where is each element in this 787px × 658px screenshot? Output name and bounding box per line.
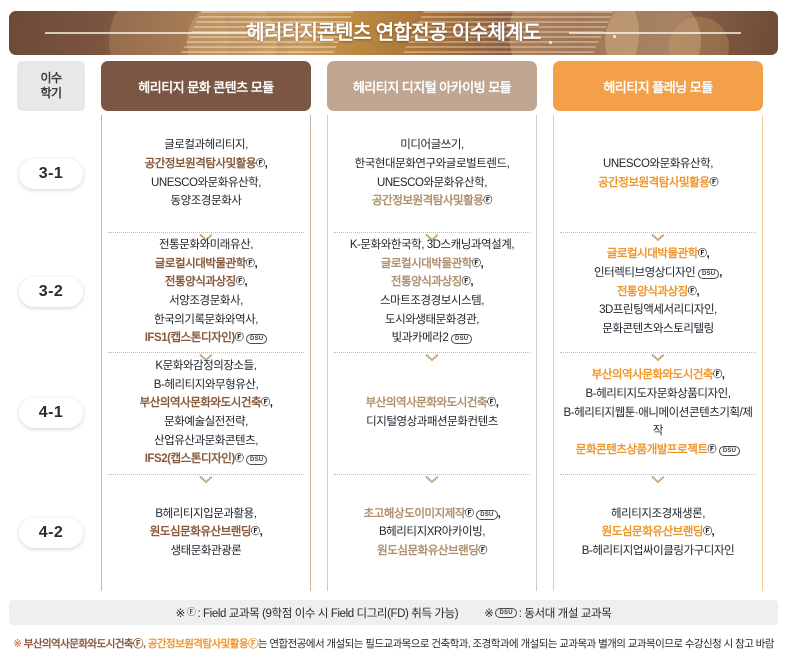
course-name[interactable]: B-헤리티지업싸이클링가구디자인 [582, 545, 734, 557]
module-body-3: UNESCO와문화유산학,공간정보원격탐사및활용Ⓕ글로컬시대박물관학Ⓕ,인터렉티… [553, 115, 763, 591]
comma: , [706, 248, 709, 260]
course-list: 부산의역사문화와도시건축Ⓕ,B-헤리티지도자문화상품디자인,B-헤리티지웹툰·애… [554, 366, 762, 459]
course-name[interactable]: 공간정보원격탐사및활용 [372, 195, 483, 207]
dsu-badge-icon: DSU [246, 334, 267, 344]
course-name[interactable]: 전통문화와미래유산, [159, 239, 253, 251]
comma: , [260, 526, 263, 538]
legend-dsu-text: : 동서대 개설 교과목 [519, 605, 612, 621]
comma: , [480, 258, 483, 270]
course-name[interactable]: 미디어글쓰기, [400, 139, 464, 151]
field-badge-icon: Ⓕ [235, 454, 244, 463]
field-badge-icon: Ⓕ [261, 398, 270, 407]
course-name[interactable]: 문화콘텐츠상품개발프로젝트 [576, 444, 708, 456]
course-list: K문화와감정의장소들,B-헤리티지와무형유산,부산의역사문화와도시건축Ⓕ,문화예… [134, 357, 279, 469]
module-column-1: 헤리티지 문화 콘텐츠 모듈 글로컬과헤리티지,공간정보원격탐사및활용Ⓕ,UNE… [97, 61, 315, 591]
footnote-course-2: 공간정보원격탐사및활용Ⓕ [148, 638, 258, 650]
comma: , [470, 276, 473, 288]
module-body-2: 미디어글쓰기,한국현대문화연구와글로벌트렌드,UNESCO와문화유산학,공간정보… [327, 115, 537, 591]
course-name[interactable]: B-헤리티지와무형유산, [154, 379, 259, 391]
course-name[interactable]: UNESCO와문화유산학, [603, 158, 713, 170]
module-header-1[interactable]: 헤리티지 문화 콘텐츠 모듈 [101, 61, 311, 111]
field-badge-icon: Ⓕ [713, 370, 722, 379]
field-badge-icon: Ⓕ [709, 178, 718, 187]
field-badge-icon: Ⓕ [256, 159, 265, 168]
legend-dsu-star: ※ [484, 606, 493, 620]
semester-pill: 4-1 [19, 398, 83, 428]
comma: , [498, 508, 501, 520]
course-name[interactable]: 전통양식과상징 [165, 276, 236, 288]
dsu-badge-icon: DSU [719, 446, 740, 456]
course-name[interactable]: 원도심문화유산브랜딩 [377, 545, 478, 557]
semester-header-line1: 이수 [40, 71, 61, 86]
footnote-star: ※ [13, 638, 21, 650]
course-name[interactable]: 글로컬시대박물관학 [381, 258, 472, 270]
course-list: K-문화와한국학, 3D스캐닝과역설계,글로컬시대박물관학Ⓕ,전통양식과상징Ⓕ,… [344, 236, 520, 348]
comma: , [254, 258, 257, 270]
course-list: UNESCO와문화유산학,공간정보원격탐사및활용Ⓕ [592, 155, 724, 192]
table-row: 전통문화와미래유산,글로컬시대박물관학Ⓕ,전통양식과상징Ⓕ,서양조경문화사,한국… [102, 232, 310, 352]
legend-field: ※ Ⓕ : Field 교과목 (9학점 이수 시 Field 디그리(FD) … [176, 605, 459, 621]
field-badge-icon: Ⓕ [187, 608, 196, 617]
course-name[interactable]: UNESCO와문화유산학, [151, 177, 261, 189]
course-name[interactable]: 원도심문화유산브랜딩 [150, 526, 251, 538]
page-banner: 헤리티지콘텐츠 연합전공 이수체계도 [9, 11, 778, 55]
course-name[interactable]: B-헤리티지도자문화상품디자인, [585, 388, 730, 400]
field-badge-icon: Ⓕ [708, 445, 717, 454]
course-name[interactable]: 생태문화관광론 [171, 545, 242, 557]
course-list: 초고해상도이미지제작Ⓕ DSU,B헤리티지XR아카이빙,원도심문화유산브랜딩Ⓕ [358, 505, 507, 561]
course-name[interactable]: 글로컬시대박물관학 [607, 248, 698, 260]
course-name[interactable]: 빛과카메라2 [392, 332, 449, 344]
course-name[interactable]: 도시와생태문화경관, [385, 314, 479, 326]
course-name[interactable]: 전통양식과상징 [617, 286, 688, 298]
legend-field-text: : Field 교과목 (9학점 이수 시 Field 디그리(FD) 취득 가… [197, 605, 458, 621]
legend-field-star: ※ [176, 606, 185, 620]
module-column-2: 헤리티지 디지털 아카이빙 모듈 미디어글쓰기,한국현대문화연구와글로벌트렌드,… [323, 61, 541, 591]
course-list: 글로컬과헤리티지,공간정보원격탐사및활용Ⓕ,UNESCO와문화유산학,동양조경문… [139, 136, 274, 211]
semester-column: 이수 학기 3-13-24-14-2 [9, 61, 93, 591]
field-badge-icon: Ⓕ [483, 196, 492, 205]
comma: , [244, 276, 247, 288]
module-header-3[interactable]: 헤리티지 플래닝 모듈 [553, 61, 763, 111]
comma: , [496, 397, 499, 409]
page-title: 헤리티지콘텐츠 연합전공 이수체계도 [9, 11, 778, 55]
course-name[interactable]: 인터렉티브영상디자인 [594, 267, 695, 279]
course-name[interactable]: 공간정보원격탐사및활용 [145, 158, 256, 170]
dsu-badge-icon: DSU [698, 269, 719, 279]
course-list: B헤리티지입문과활용,원도심문화유산브랜딩Ⓕ,생태문화관광론 [144, 505, 269, 561]
table-row: 초고해상도이미지제작Ⓕ DSU,B헤리티지XR아카이빙,원도심문화유산브랜딩Ⓕ [328, 474, 536, 591]
field-badge-icon: Ⓕ [478, 546, 487, 555]
field-badge-icon: Ⓕ [703, 527, 712, 536]
semester-pill: 4-2 [19, 518, 83, 548]
comma: , [270, 397, 273, 409]
footnote: ※ 부산의역사문화와도시건축Ⓕ, 공간정보원격탐사및활용Ⓕ는 연합전공에서 개설… [9, 636, 778, 651]
course-name[interactable]: 부산의역사문화와도시건축 [592, 369, 714, 381]
table-row: K-문화와한국학, 3D스캐닝과역설계,글로컬시대박물관학Ⓕ,전통양식과상징Ⓕ,… [328, 232, 536, 352]
course-name[interactable]: 문화예술실전전략, [164, 416, 248, 428]
course-name[interactable]: 공간정보원격탐사및활용 [598, 177, 709, 189]
comma: , [712, 526, 715, 538]
table-row: 글로컬시대박물관학Ⓕ,인터렉티브영상디자인 DSU,전통양식과상징Ⓕ,3D프린팅… [554, 232, 762, 352]
course-name[interactable]: 글로컬과헤리티지, [164, 139, 248, 151]
table-row: 헤리티지조경재생론,원도심문화유산브랜딩Ⓕ,B-헤리티지업싸이클링가구디자인 [554, 474, 762, 591]
course-name[interactable]: 문화콘텐츠와스토리텔링 [602, 323, 713, 335]
course-name[interactable]: 부산의역사문화와도시건축 [366, 397, 488, 409]
footnote-course-1: 부산의역사문화와도시건축Ⓕ [24, 638, 143, 650]
table-row: UNESCO와문화유산학,공간정보원격탐사및활용Ⓕ [554, 115, 762, 232]
course-list: 헤리티지조경재생론,원도심문화유산브랜딩Ⓕ,B-헤리티지업싸이클링가구디자인 [576, 505, 740, 561]
field-badge-icon: Ⓕ [235, 333, 244, 342]
dsu-badge-icon: DSU [246, 455, 267, 465]
dsu-badge-icon: DSU [476, 510, 497, 520]
course-name[interactable]: UNESCO와문화유산학, [377, 177, 487, 189]
course-name[interactable]: 부산의역사문화와도시건축 [140, 397, 262, 409]
legend-dsu: ※ DSU : 동서대 개설 교과목 [484, 605, 611, 621]
comma: , [265, 158, 268, 170]
course-name[interactable]: 초고해상도이미지제작 [364, 508, 465, 520]
course-name[interactable]: 스마트조경경보시스템, [380, 295, 484, 307]
table-row: K문화와감정의장소들,B-헤리티지와무형유산,부산의역사문화와도시건축Ⓕ,문화예… [102, 352, 310, 474]
course-name[interactable]: 전통양식과상징 [391, 276, 462, 288]
course-name[interactable]: 한국현대문화연구와글로벌트렌드, [355, 158, 510, 170]
module-header-2[interactable]: 헤리티지 디지털 아카이빙 모듈 [327, 61, 537, 111]
legend-bar: ※ Ⓕ : Field 교과목 (9학점 이수 시 Field 디그리(FD) … [9, 600, 778, 625]
course-name[interactable]: B-헤리티지웹툰·애니메이션콘텐츠기획/제작 [564, 407, 753, 438]
semester-header: 이수 학기 [17, 61, 85, 111]
course-name[interactable]: 디지털영상과패션문화컨텐츠 [366, 416, 498, 428]
module-column-3: 헤리티지 플래닝 모듈 UNESCO와문화유산학,공간정보원격탐사및활용Ⓕ글로컬… [549, 61, 767, 591]
comma: , [719, 267, 722, 279]
course-name[interactable]: K-문화와한국학, 3D스캐닝과역설계, [350, 239, 514, 251]
table-row: 글로컬과헤리티지,공간정보원격탐사및활용Ⓕ,UNESCO와문화유산학,동양조경문… [102, 115, 310, 232]
course-name[interactable]: 산업유산과문화콘텐츠, [154, 435, 258, 447]
course-name[interactable]: 3D프린팅액세서리디자인, [599, 304, 717, 316]
course-name[interactable]: B헤리티지입문과활용, [155, 508, 256, 520]
table-row: B헤리티지입문과활용,원도심문화유산브랜딩Ⓕ,생태문화관광론 [102, 474, 310, 591]
course-list: 글로컬시대박물관학Ⓕ,인터렉티브영상디자인 DSU,전통양식과상징Ⓕ,3D프린팅… [588, 245, 728, 338]
module-body-1: 글로컬과헤리티지,공간정보원격탐사및활용Ⓕ,UNESCO와문화유산학,동양조경문… [101, 115, 311, 591]
dsu-badge-icon: DSU [495, 608, 516, 618]
curriculum-grid: 이수 학기 3-13-24-14-2 헤리티지 문화 콘텐츠 모듈 글로컬과헤리… [9, 61, 778, 591]
course-name[interactable]: IFS1(캡스톤디자인) [145, 332, 235, 344]
course-name[interactable]: 글로컬시대박물관학 [155, 258, 246, 270]
semester-pill: 3-2 [19, 277, 83, 307]
field-badge-icon: Ⓕ [465, 509, 474, 518]
course-name[interactable]: K문화와감정의장소들, [155, 360, 256, 372]
dsu-badge-icon: DSU [451, 334, 472, 344]
footnote-rest: 는 연합전공에서 개설되는 필드교과목으로 건축학과, 조경학과에 개설되는 교… [258, 638, 774, 650]
course-name[interactable]: 한국의기록문화와역사, [154, 314, 258, 326]
course-name[interactable]: B헤리티지XR아카이빙, [379, 526, 485, 538]
table-row: 미디어글쓰기,한국현대문화연구와글로벌트렌드,UNESCO와문화유산학,공간정보… [328, 115, 536, 232]
semester-header-line2: 학기 [40, 86, 61, 101]
course-list: 미디어글쓰기,한국현대문화연구와글로벌트렌드,UNESCO와문화유산학,공간정보… [349, 136, 516, 211]
course-name[interactable]: 헤리티지조경재생론, [611, 508, 705, 520]
semester-pill: 3-1 [19, 159, 83, 189]
course-list: 부산의역사문화와도시건축Ⓕ,디지털영상과패션문화컨텐츠 [360, 394, 505, 431]
field-badge-icon: Ⓕ [487, 398, 496, 407]
course-name[interactable]: IFS2(캡스톤디자인) [145, 453, 235, 465]
course-name[interactable]: 서양조경문화사, [169, 295, 243, 307]
table-row: 부산의역사문화와도시건축Ⓕ,디지털영상과패션문화컨텐츠 [328, 352, 536, 474]
course-name[interactable]: 원도심문화유산브랜딩 [602, 526, 703, 538]
comma: , [696, 286, 699, 298]
course-list: 전통문화와미래유산,글로컬시대박물관학Ⓕ,전통양식과상징Ⓕ,서양조경문화사,한국… [139, 236, 274, 348]
comma: , [722, 369, 725, 381]
field-badge-icon: Ⓕ [251, 527, 260, 536]
table-row: 부산의역사문화와도시건축Ⓕ,B-헤리티지도자문화상품디자인,B-헤리티지웹툰·애… [554, 352, 762, 474]
course-name[interactable]: 동양조경문화사 [171, 195, 242, 207]
